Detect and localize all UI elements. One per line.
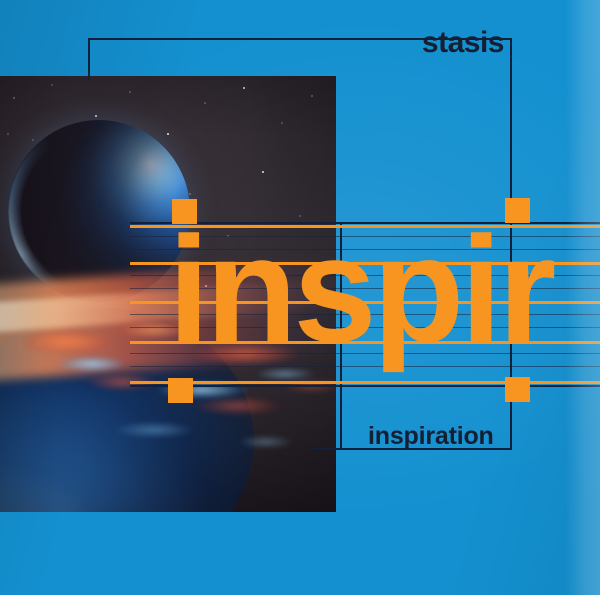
square-top-right	[505, 198, 530, 223]
square-bottom-left	[168, 378, 193, 403]
album-cover: inspir stasis inspiration	[0, 0, 600, 595]
orange-rule-2	[130, 262, 600, 265]
square-bottom-right	[505, 377, 530, 402]
square-top-left	[172, 199, 197, 224]
orange-rule-4	[130, 341, 600, 344]
orange-rule-1	[130, 225, 600, 228]
artist-name: stasis	[422, 28, 504, 58]
rule-top-vertical	[88, 38, 90, 80]
title-full: inspiration	[368, 424, 494, 449]
orange-rule-3	[130, 301, 600, 304]
